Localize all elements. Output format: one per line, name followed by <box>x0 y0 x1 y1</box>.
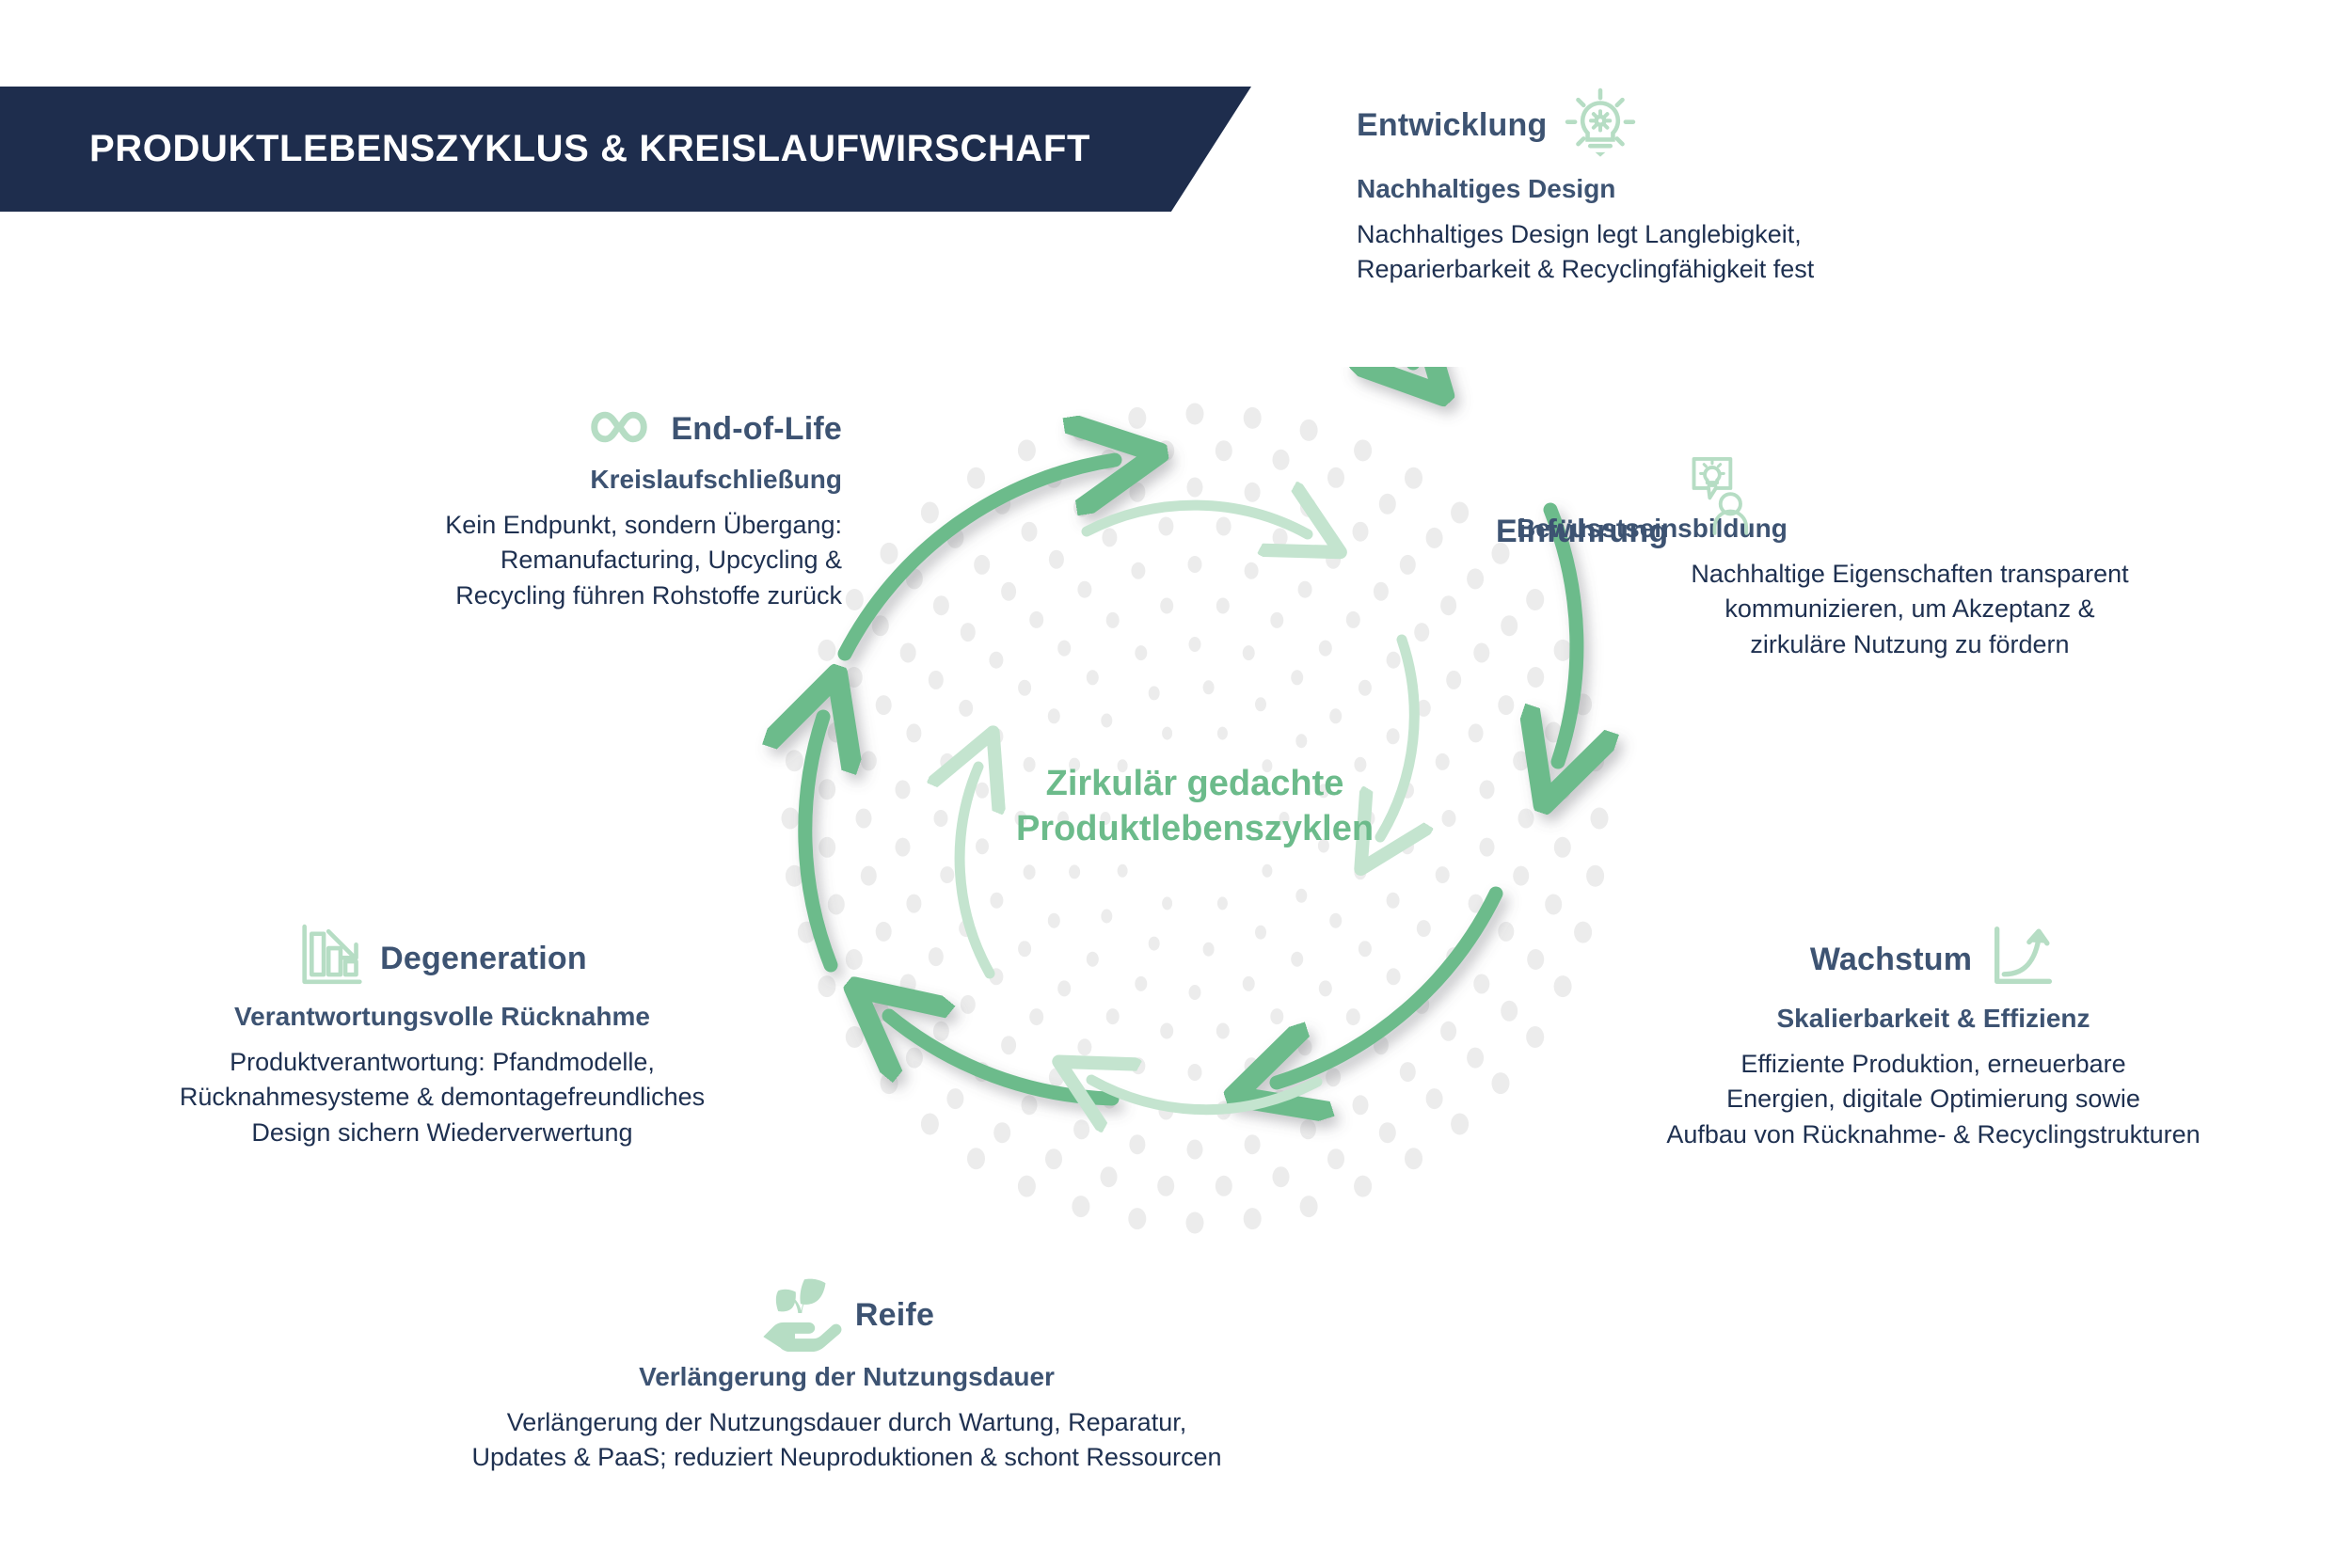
inner-arrow-left <box>960 767 990 974</box>
stage-eol-title: End-of-Life <box>671 411 842 448</box>
stage-degeneration: Degeneration Verantwortungsvolle Rücknah… <box>47 922 837 1150</box>
stage-degeneration-title: Degeneration <box>380 941 587 977</box>
stage-einfuehrung-title: Einführung <box>1496 514 1668 550</box>
stage-entwicklung-title: Entwicklung <box>1357 107 1547 144</box>
stage-entwicklung-header: Entwicklung <box>1357 83 2128 168</box>
stage-wachstum-body: Effiziente Produktion, erneuerbare Energ… <box>1519 1047 2347 1152</box>
infinity-icon <box>580 400 658 459</box>
stage-wachstum: Wachstum Skalierbarkeit & Effizienz Effi… <box>1519 922 2347 1152</box>
stage-eol: End-of-Life Kreislaufschließung Kein End… <box>155 400 842 613</box>
stage-entwicklung-body: Nachhaltiges Design legt Langlebigkeit, … <box>1357 217 2128 288</box>
declining-bar-chart-icon <box>297 922 367 996</box>
stage-degeneration-body: Produktverantwortung: Pfandmodelle, Rück… <box>47 1045 837 1150</box>
page-title: PRODUKTLEBENSZYKLUS & KREISLAUFWIRSCHAFT <box>89 128 1090 170</box>
stage-einfuehrung-header: Einführung <box>1496 455 1760 550</box>
stage-einfuehrung: Einführung Bewusstseinsbildung Nachhalti… <box>1496 508 2324 662</box>
growth-chart-arrow-up-icon <box>1985 922 2057 998</box>
stage-wachstum-subtitle: Skalierbarkeit & Effizienz <box>1519 1004 2347 1034</box>
stage-eol-subtitle: Kreislaufschließung <box>155 465 842 495</box>
stage-reife-header: Reife <box>292 1275 1402 1356</box>
stage-degeneration-header: Degeneration <box>47 922 837 996</box>
header-banner: PRODUKTLEBENSZYKLUS & KREISLAUFWIRSCHAFT <box>0 87 1251 212</box>
stage-eol-header: End-of-Life <box>155 400 842 459</box>
stage-reife-subtitle: Verlängerung der Nutzungsdauer <box>292 1362 1402 1392</box>
arrow-wachstum-to-reife <box>1277 894 1496 1083</box>
hand-sprout-icon <box>759 1275 842 1356</box>
inner-cycle-arrows <box>960 505 1414 1110</box>
stage-einfuehrung-body: Nachhaltige Eigenschaften transparent ko… <box>1496 557 2324 662</box>
lightbulb-gear-icon <box>1560 83 1641 168</box>
person-speech-bubble-lightbulb-icon <box>1681 455 1760 543</box>
stage-entwicklung: Entwicklung Nachhaltiges Design Nachhalt… <box>1357 83 2128 288</box>
stage-entwicklung-subtitle: Nachhaltiges Design <box>1357 174 2128 204</box>
stage-wachstum-header: Wachstum <box>1519 922 2347 998</box>
inner-arrow-top <box>1087 505 1308 534</box>
stage-degeneration-subtitle: Verantwortungsvolle Rücknahme <box>47 1002 837 1032</box>
stage-reife-body: Verlängerung der Nutzungsdauer durch War… <box>292 1405 1402 1476</box>
stage-reife: Reife Verlängerung der Nutzungsdauer Ver… <box>292 1275 1402 1476</box>
stage-reife-title: Reife <box>855 1297 934 1334</box>
stage-wachstum-title: Wachstum <box>1810 942 1972 978</box>
stage-eol-body: Kein Endpunkt, sondern Übergang: Remanuf… <box>155 508 842 613</box>
